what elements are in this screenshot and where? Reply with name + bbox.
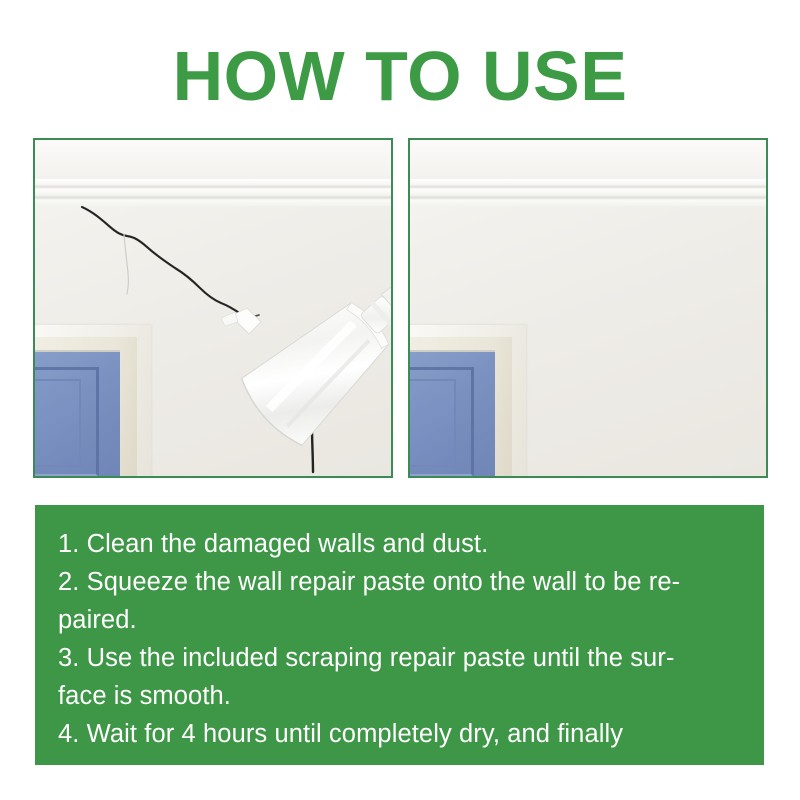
ceiling — [410, 140, 766, 184]
instructions-text: 1. Clean the damaged walls and dust. 2. … — [58, 525, 742, 753]
how-to-use-infographic: HOW TO USE — [0, 0, 800, 800]
scene-before-repair — [35, 140, 391, 476]
crown-molding — [410, 179, 766, 209]
repair-paste-bottle — [35, 140, 391, 476]
page-title: HOW TO USE — [0, 38, 800, 114]
photo-panel-before — [33, 138, 393, 478]
scene-after-repair — [410, 140, 766, 476]
instructions-panel: 1. Clean the damaged walls and dust. 2. … — [35, 505, 764, 765]
photo-panel-after — [408, 138, 768, 478]
door-panel-inner — [410, 379, 456, 467]
